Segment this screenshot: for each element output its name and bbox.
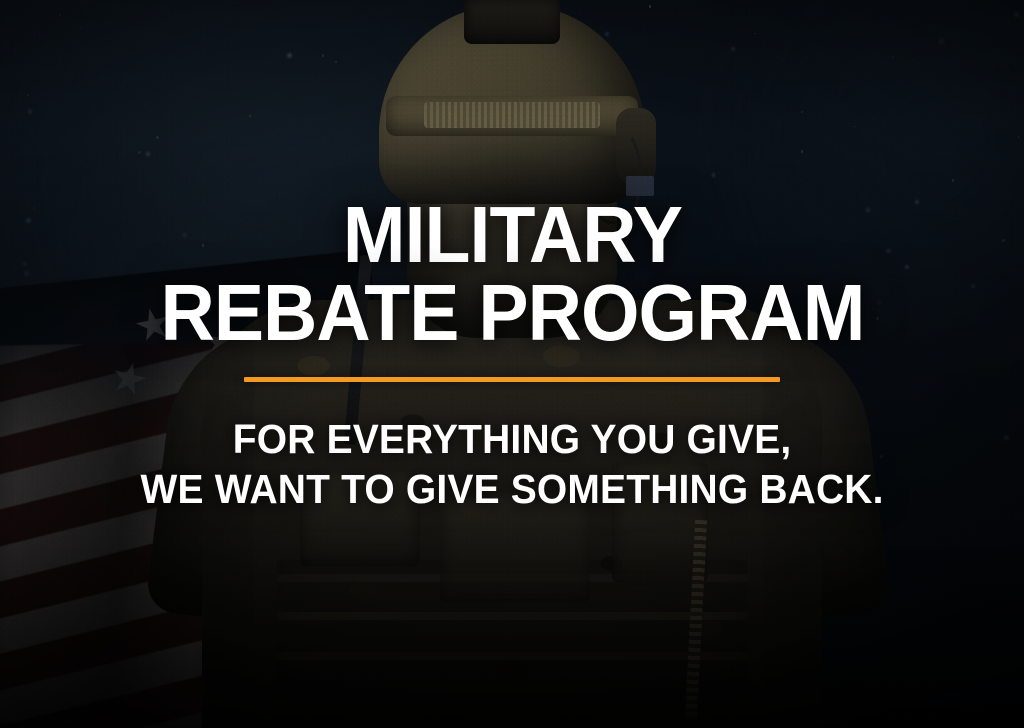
subheadline-line-1: FOR EVERYTHING YOU GIVE, bbox=[140, 414, 883, 464]
subheadline-line-2: WE WANT TO GIVE SOMETHING BACK. bbox=[140, 464, 883, 514]
page-title: MILITARY REBATE PROGRAM bbox=[160, 196, 864, 351]
banner-content: MILITARY REBATE PROGRAM FOR EVERYTHING Y… bbox=[0, 0, 1024, 728]
headline-line-1: MILITARY bbox=[160, 196, 864, 274]
page-subtitle: FOR EVERYTHING YOU GIVE, WE WANT TO GIVE… bbox=[140, 414, 883, 514]
headline-line-2: REBATE PROGRAM bbox=[160, 274, 864, 352]
accent-divider bbox=[244, 377, 780, 382]
military-rebate-banner: MILITARY REBATE PROGRAM FOR EVERYTHING Y… bbox=[0, 0, 1024, 728]
